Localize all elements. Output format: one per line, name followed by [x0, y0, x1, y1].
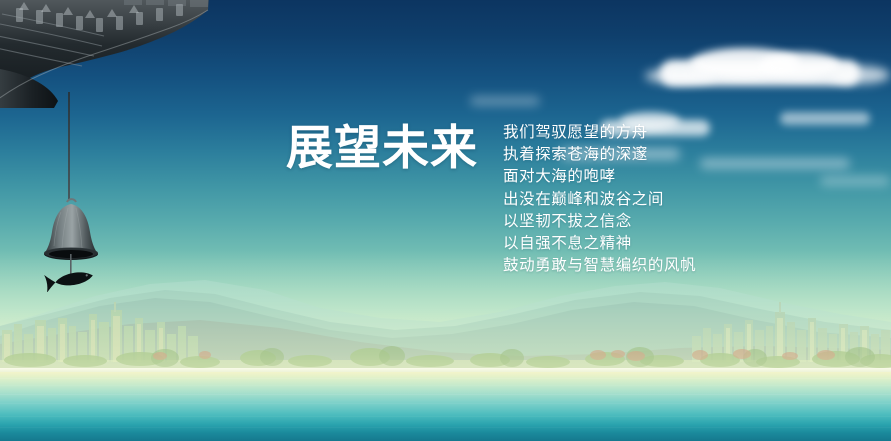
poem-line: 面对大海的咆哮: [503, 166, 723, 188]
banner-image: 展望未来 我们驾驭愿望的方舟 执着探索苍海的深邃 面对大海的咆哮 出没在巅峰和波…: [0, 0, 891, 441]
cloud-icon: [645, 68, 715, 84]
wind-bell-assembly: [30, 92, 120, 292]
lake-water: [0, 372, 891, 441]
poem-line: 以坚韧不拔之信念: [503, 211, 723, 233]
cloud-icon: [830, 66, 890, 84]
poem-line: 鼓动勇敢与智慧编织的风帆: [503, 255, 723, 277]
bell-string: [68, 92, 70, 200]
poem-line: 出没在巅峰和波谷之间: [503, 189, 723, 211]
page-title: 展望未来: [286, 124, 478, 171]
cloud-icon: [820, 176, 890, 186]
cloud-icon: [470, 96, 540, 106]
poem-line: 我们驾驭愿望的方舟: [503, 122, 723, 144]
poem-line: 以自强不息之精神: [503, 233, 723, 255]
poem-line: 执着探索苍海的深邃: [503, 144, 723, 166]
poem-block: 我们驾驭愿望的方舟 执着探索苍海的深邃 面对大海的咆哮 出没在巅峰和波谷之间 以…: [503, 122, 723, 277]
wind-bell-icon: [34, 196, 108, 292]
cloud-icon: [780, 112, 870, 125]
cloud-icon: [760, 52, 840, 78]
